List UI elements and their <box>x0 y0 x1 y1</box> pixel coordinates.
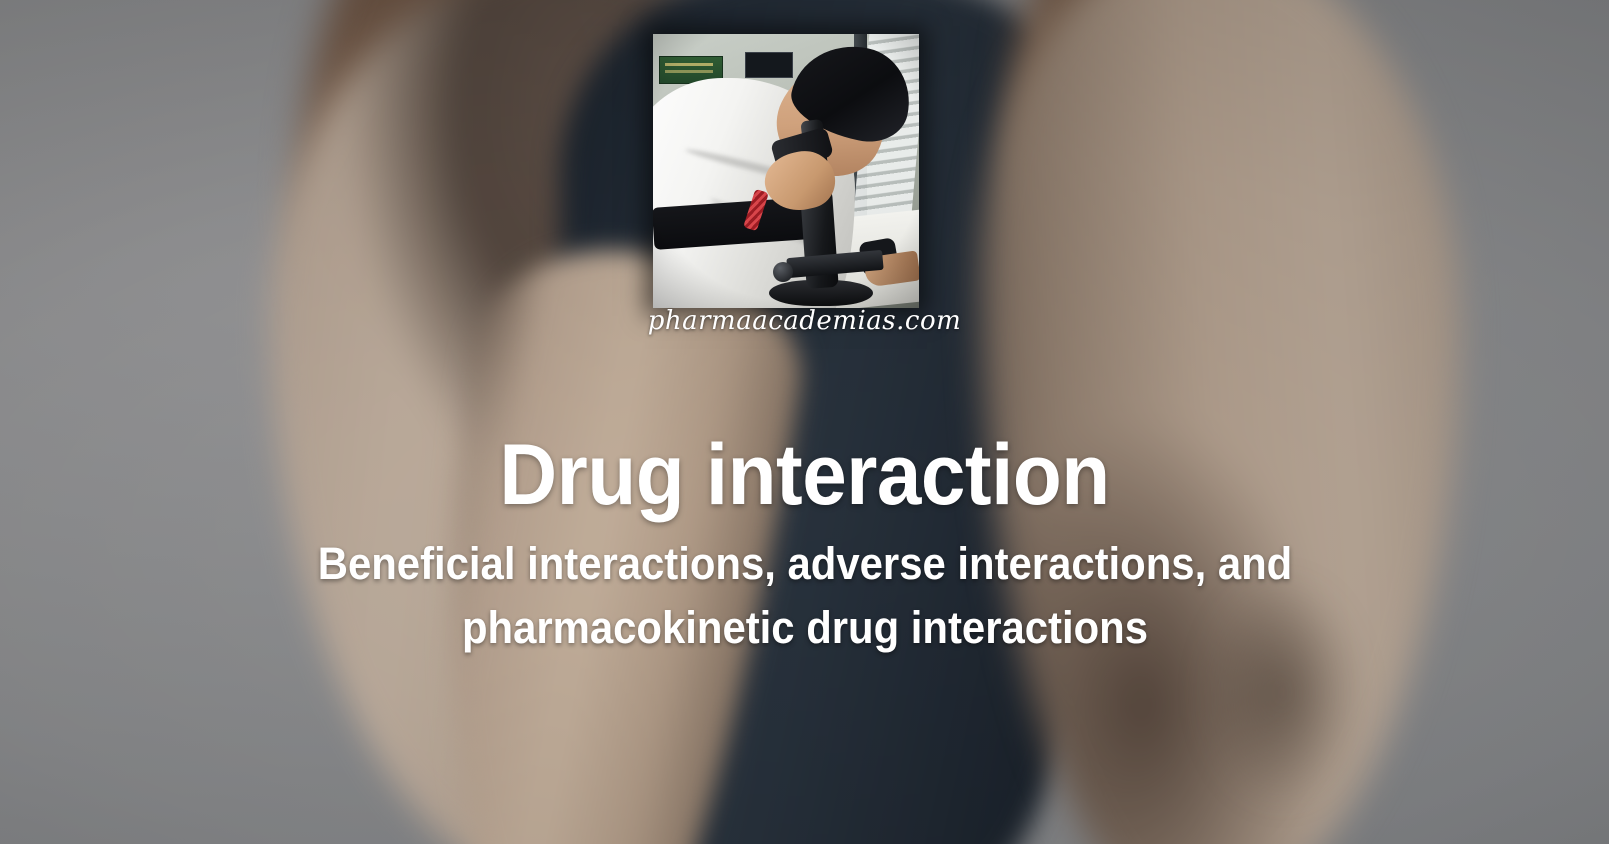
lab-window <box>745 52 793 78</box>
page-title: Drug interaction <box>56 432 1552 518</box>
inset-photo-content <box>653 34 919 308</box>
page-subtitle: Beneficial interactions, adverse interac… <box>200 532 1409 660</box>
watermark-text: pharmaacademias.com <box>0 306 1609 336</box>
inset-image <box>653 34 919 308</box>
poster-canvas: pharmaacademias.com Drug interaction Ben… <box>0 0 1609 844</box>
headline-block: Drug interaction Beneficial interactions… <box>0 432 1609 660</box>
microscope-focus-knob <box>773 262 793 282</box>
inset-image-frame <box>653 34 919 308</box>
